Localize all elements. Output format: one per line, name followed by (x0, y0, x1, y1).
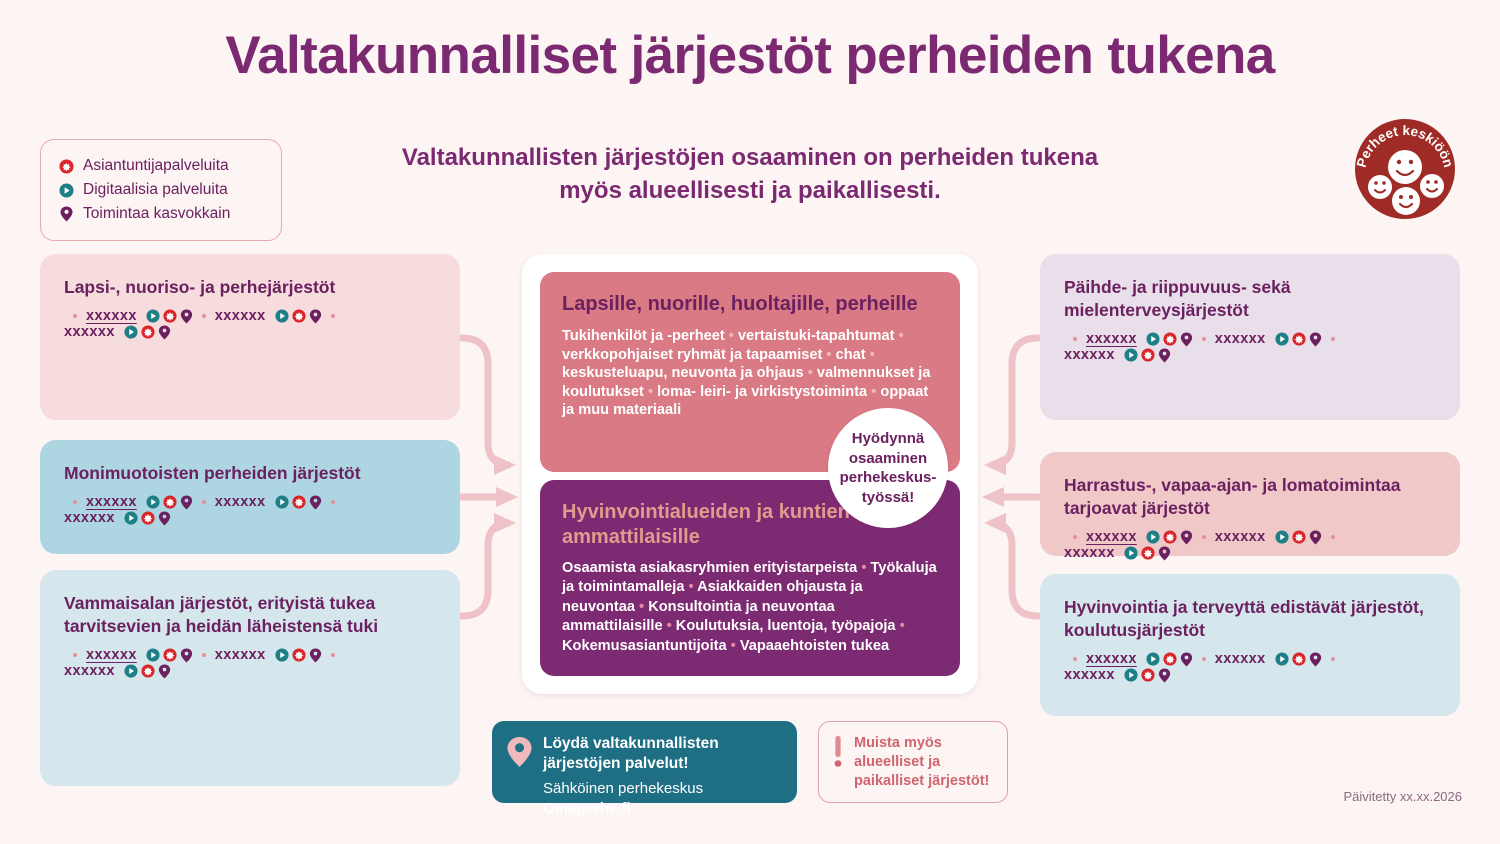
legend-box: Asiantuntijapalveluita Digitaalisia palv… (40, 139, 282, 241)
digital-services-icon (124, 325, 138, 339)
service-icon-group (124, 664, 171, 679)
expert-services-icon (1292, 530, 1306, 544)
expert-services-icon (292, 495, 306, 509)
service-icon-group (1146, 652, 1193, 667)
digital-services-icon (146, 495, 160, 509)
expert-services-icon (59, 159, 74, 174)
face-to-face-icon (59, 206, 74, 222)
face-to-face-icon (1158, 546, 1171, 561)
bullet-separator (1331, 337, 1335, 341)
face-to-face-icon (1158, 668, 1171, 683)
highlight-badge-text: Hyödynnä osaaminen perhekeskus-työssä! (828, 429, 948, 507)
bullet-separator (1073, 535, 1077, 539)
bullet-separator (1073, 657, 1077, 661)
card-vammaisalan-jarjestot[interactable]: Vammaisalan järjestöt, erityistä tukea t… (40, 570, 460, 786)
org-name[interactable]: xxxxxx (215, 494, 266, 510)
org-name[interactable]: xxxxxx (1086, 331, 1137, 347)
find-services-text: Löydä valtakunnallisten järjestöjen palv… (543, 734, 781, 819)
org-entry[interactable]: xxxxxx (64, 324, 171, 340)
expert-services-icon (1292, 652, 1306, 666)
logo-graphic: Perheet keskiöön (1348, 117, 1462, 222)
org-name[interactable]: xxxxxx (215, 647, 266, 663)
org-entry[interactable]: xxxxxx (215, 647, 322, 663)
face-to-face-icon (158, 511, 171, 526)
digital-services-icon (1124, 546, 1138, 560)
face-to-face-icon (309, 309, 322, 324)
digital-services-icon (124, 511, 138, 525)
card-title: Harrastus-, vapaa-ajan- ja lomatoimintaa… (1064, 474, 1436, 520)
face-to-face-icon (158, 325, 171, 340)
exclamation-icon (833, 736, 843, 770)
service-icon-group (1275, 652, 1322, 667)
expert-services-icon (1141, 546, 1155, 560)
digital-services-icon (124, 664, 138, 678)
expert-services-icon (1141, 668, 1155, 682)
find-services-subline-prefix: Sähköinen perhekeskus (543, 780, 703, 797)
bullet-separator (73, 314, 77, 318)
panel-professionals-body: Osaamista asiakasryhmien erityistarpeist… (562, 559, 938, 656)
bullet-separator (331, 500, 335, 504)
bullet-separator (1331, 535, 1335, 539)
service-icon-group (1124, 546, 1171, 561)
org-entry[interactable]: xxxxxx (1215, 331, 1322, 347)
face-to-face-icon (1180, 332, 1193, 347)
org-entry[interactable]: xxxxxx (64, 510, 171, 526)
face-to-face-icon (180, 648, 193, 663)
org-entry[interactable]: xxxxxx (215, 494, 322, 510)
face-to-face-icon (1309, 652, 1322, 667)
org-entry[interactable]: xxxxxx (215, 308, 322, 324)
org-entry[interactable]: xxxxxx (1064, 667, 1171, 683)
org-name[interactable]: xxxxxx (64, 663, 115, 679)
find-services-headline: Löydä valtakunnallisten järjestöjen palv… (543, 734, 781, 774)
expert-services-icon (1163, 332, 1177, 346)
card-title: Päihde- ja riippuvuus- sekä mielentervey… (1064, 276, 1436, 322)
expert-services-icon (1163, 530, 1177, 544)
org-entry-list: xxxxxx xxxxxx xxxxxx (64, 308, 436, 340)
service-icon-group (124, 325, 171, 340)
legend-label: Digitaalisia palveluita (83, 181, 228, 199)
legend-item-facetoface: Toimintaa kasvokkain (59, 202, 265, 226)
org-entry-list: xxxxxx xxxxxx xxxxxx (1064, 651, 1436, 683)
org-entry-list: xxxxxx xxxxxx xxxxxx (64, 647, 436, 679)
legend-label: Asiantuntijapalveluita (83, 157, 229, 175)
org-entry-list: xxxxxx xxxxxx xxxxxx (64, 494, 436, 526)
org-name[interactable]: xxxxxx (1064, 667, 1115, 683)
remember-local-note: Muista myös alueelliset ja paikalliset j… (818, 721, 1008, 803)
expert-services-icon (292, 309, 306, 323)
org-entry[interactable]: xxxxxx (1215, 529, 1322, 545)
digital-services-icon (1146, 652, 1160, 666)
face-to-face-icon (1158, 348, 1171, 363)
digital-services-icon (1146, 332, 1160, 346)
digital-services-icon (275, 648, 289, 662)
digital-services-icon (59, 183, 74, 198)
service-icon-group (1275, 332, 1322, 347)
expert-services-icon (141, 511, 155, 525)
org-entry[interactable]: xxxxxx (86, 494, 193, 510)
org-name[interactable]: xxxxxx (1064, 347, 1115, 363)
expert-services-icon (1163, 652, 1177, 666)
bullet-separator (1202, 337, 1206, 341)
digital-services-icon (1146, 530, 1160, 544)
panel-families-title: Lapsille, nuorille, huoltajille, perheil… (562, 292, 938, 316)
omaperhe-link[interactable]: Omaperhe.fi (543, 800, 631, 817)
org-name[interactable]: xxxxxx (1086, 529, 1137, 545)
org-name[interactable]: xxxxxx (86, 494, 137, 510)
page-title: Valtakunnalliset järjestöt perheiden tuk… (0, 26, 1500, 86)
card-lapsi-nuoriso-perhejarjestot[interactable]: Lapsi-, nuoriso- ja perhejärjestöt xxxxx… (40, 254, 460, 420)
org-name[interactable]: xxxxxx (1215, 331, 1266, 347)
org-entry[interactable]: xxxxxx (1086, 651, 1193, 667)
digital-services-icon (275, 495, 289, 509)
org-name[interactable]: xxxxxx (1215, 529, 1266, 545)
org-entry[interactable]: xxxxxx (64, 663, 171, 679)
org-entry-list: xxxxxx xxxxxx xxxxxx (1064, 331, 1436, 363)
bullet-separator (1331, 657, 1335, 661)
service-icon-group (1275, 530, 1322, 545)
bullet-separator (73, 500, 77, 504)
perheet-keskioon-logo: Perheet keskiöön (1348, 117, 1462, 222)
org-name[interactable]: xxxxxx (64, 324, 115, 340)
bullet-separator (202, 653, 206, 657)
card-title: Lapsi-, nuoriso- ja perhejärjestöt (64, 276, 436, 299)
org-entry[interactable]: xxxxxx (1064, 545, 1171, 561)
card-paihde-riippuvuus-mielenterveysjarjestot[interactable]: Päihde- ja riippuvuus- sekä mielentervey… (1040, 254, 1460, 420)
digital-services-icon (146, 648, 160, 662)
bullet-separator (202, 314, 206, 318)
bullet-separator (73, 653, 77, 657)
face-to-face-icon (1309, 530, 1322, 545)
org-entry[interactable]: xxxxxx (86, 308, 193, 324)
expert-services-icon (163, 495, 177, 509)
face-to-face-icon (1180, 652, 1193, 667)
card-title: Vammaisalan järjestöt, erityistä tukea t… (64, 592, 436, 638)
face-to-face-icon (1309, 332, 1322, 347)
find-services-subline: Sähköinen perhekeskus Omaperhe.fi (543, 779, 781, 819)
legend-item-digital: Digitaalisia palveluita (59, 178, 265, 202)
org-entry[interactable]: xxxxxx (1064, 347, 1171, 363)
card-hyvinvointia-terveytta-edistavat[interactable]: Hyvinvointia ja terveyttä edistävät järj… (1040, 574, 1460, 716)
face-to-face-icon (158, 664, 171, 679)
bullet-separator (1202, 657, 1206, 661)
bullet-separator (1073, 337, 1077, 341)
org-entry[interactable]: xxxxxx (1086, 529, 1193, 545)
expert-services-icon (1292, 332, 1306, 346)
face-to-face-icon (180, 495, 193, 510)
card-monimuotoisten-perheiden-jarjestot[interactable]: Monimuotoisten perheiden järjestöt xxxxx… (40, 440, 460, 554)
card-harrastus-vapaa-ajan-lomatoiminta[interactable]: Harrastus-, vapaa-ajan- ja lomatoimintaa… (1040, 452, 1460, 556)
service-icon-group (275, 495, 322, 510)
service-icon-group (146, 495, 193, 510)
service-icon-group (146, 309, 193, 324)
face-to-face-icon (309, 648, 322, 663)
legend-item-expert: Asiantuntijapalveluita (59, 154, 265, 178)
org-name[interactable]: xxxxxx (1215, 651, 1266, 667)
service-icon-group (275, 648, 322, 663)
expert-services-icon (292, 648, 306, 662)
expert-services-icon (141, 325, 155, 339)
expert-services-icon (1141, 348, 1155, 362)
service-icon-group (1146, 530, 1193, 545)
digital-services-icon (1275, 652, 1289, 666)
service-icon-group (275, 309, 322, 324)
org-name[interactable]: xxxxxx (215, 308, 266, 324)
face-to-face-icon (1180, 530, 1193, 545)
service-icon-group (1124, 348, 1171, 363)
org-entry[interactable]: xxxxxx (1086, 331, 1193, 347)
org-name[interactable]: xxxxxx (64, 510, 115, 526)
digital-services-icon (1275, 530, 1289, 544)
remember-local-note-text: Muista myös alueelliset ja paikalliset j… (854, 734, 995, 791)
service-icon-group (146, 648, 193, 663)
org-name[interactable]: xxxxxx (1086, 651, 1137, 667)
expert-services-icon (163, 648, 177, 662)
digital-services-icon (1275, 332, 1289, 346)
location-pin-icon (506, 736, 533, 768)
org-entry[interactable]: xxxxxx (1215, 651, 1322, 667)
card-title: Monimuotoisten perheiden järjestöt (64, 462, 436, 485)
digital-services-icon (1124, 668, 1138, 682)
org-name[interactable]: xxxxxx (86, 647, 137, 663)
org-entry[interactable]: xxxxxx (86, 647, 193, 663)
legend-label: Toimintaa kasvokkain (83, 205, 230, 223)
digital-services-icon (1124, 348, 1138, 362)
updated-label: Päivitetty xx.xx.2026 (1344, 789, 1463, 804)
service-icon-group (124, 511, 171, 526)
expert-services-icon (163, 309, 177, 323)
digital-services-icon (146, 309, 160, 323)
find-services-box[interactable]: Löydä valtakunnallisten järjestöjen palv… (492, 721, 797, 803)
highlight-badge: Hyödynnä osaaminen perhekeskus-työssä! (828, 408, 948, 528)
infographic-stage: Valtakunnalliset järjestöt perheiden tuk… (0, 0, 1500, 844)
bullet-separator (202, 500, 206, 504)
org-entry-list: xxxxxx xxxxxx xxxxxx (1064, 529, 1436, 561)
org-name[interactable]: xxxxxx (1064, 545, 1115, 561)
bullet-separator (331, 314, 335, 318)
digital-services-icon (275, 309, 289, 323)
panel-families-body: Tukihenkilöt ja -perheet • vertaistuki-t… (562, 327, 938, 420)
service-icon-group (1146, 332, 1193, 347)
bullet-separator (1202, 535, 1206, 539)
card-title: Hyvinvointia ja terveyttä edistävät järj… (1064, 596, 1436, 642)
face-to-face-icon (309, 495, 322, 510)
face-to-face-icon (180, 309, 193, 324)
expert-services-icon (141, 664, 155, 678)
bullet-separator (331, 653, 335, 657)
org-name[interactable]: xxxxxx (86, 308, 137, 324)
service-icon-group (1124, 668, 1171, 683)
page-subtitle: Valtakunnallisten järjestöjen osaaminen … (400, 141, 1100, 207)
